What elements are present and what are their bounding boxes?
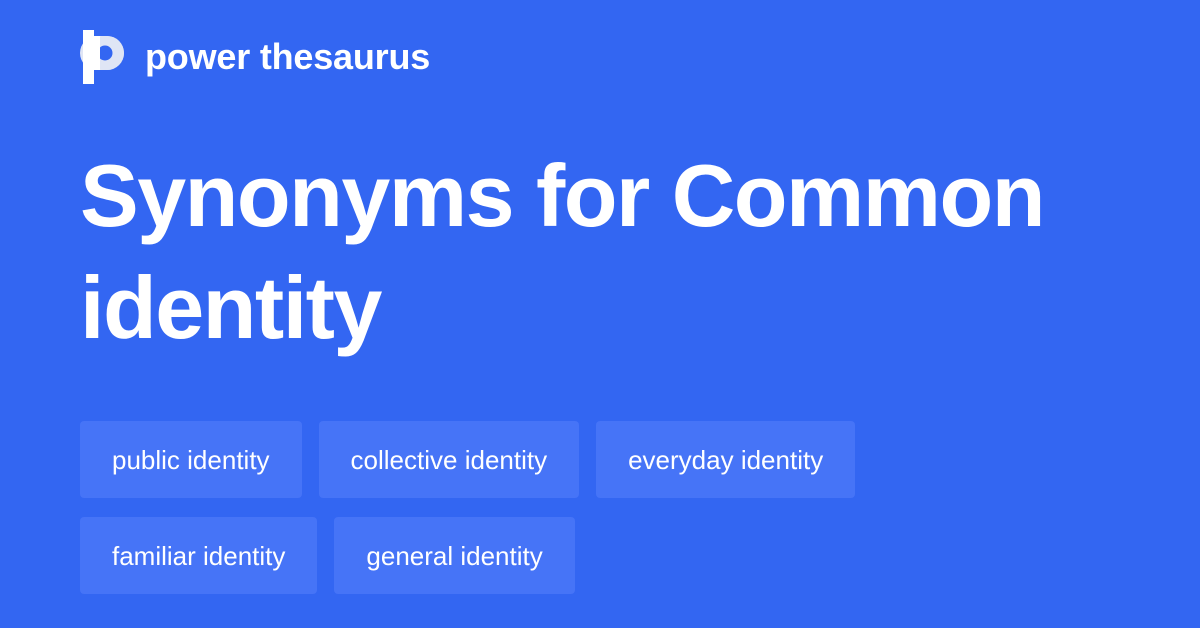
page-title: Synonyms for Common identity: [80, 140, 1080, 364]
brand-header[interactable]: power thesaurus: [80, 28, 430, 86]
synonyms-share-card: power thesaurus Synonyms for Common iden…: [0, 0, 1200, 628]
synonym-chip-list: public identitycollective identityeveryd…: [80, 421, 1080, 594]
synonym-chip[interactable]: collective identity: [319, 421, 580, 498]
power-thesaurus-logo-icon: [80, 30, 126, 84]
synonym-chip[interactable]: public identity: [80, 421, 302, 498]
synonym-chip[interactable]: general identity: [334, 517, 574, 594]
synonym-chip[interactable]: everyday identity: [596, 421, 855, 498]
brand-name: power thesaurus: [145, 39, 430, 75]
synonym-chip[interactable]: familiar identity: [80, 517, 317, 594]
